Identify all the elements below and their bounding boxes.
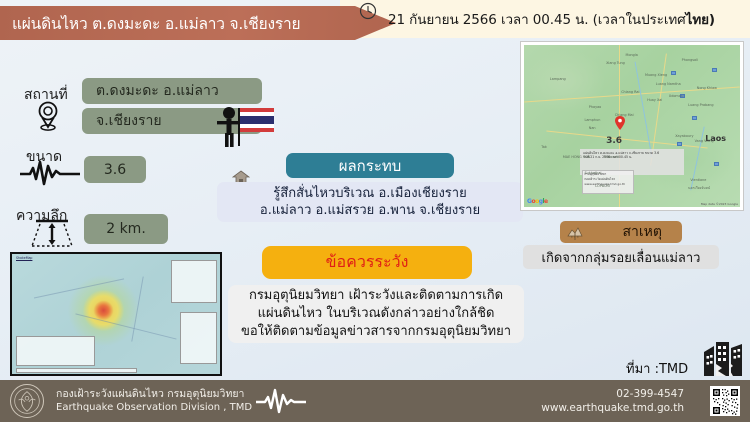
map-town-label: Lampang <box>550 77 566 81</box>
map-town-label: Muang Xieng <box>645 73 667 77</box>
footer-website[interactable]: www.earthquake.tmd.go.th <box>541 401 684 415</box>
map-town-label: Phongsali <box>682 58 698 62</box>
location-value-line1: ต.ดงมะดะ อ.แม่ลาว <box>82 78 262 104</box>
shakemap-fault-line <box>131 276 143 341</box>
stick-figure-icon <box>216 106 242 148</box>
map-town-label: Lamphun <box>584 118 600 122</box>
map-label-box <box>671 71 676 75</box>
seismograph-wave-icon <box>256 388 306 414</box>
source-label: ที่มา :TMD <box>626 358 688 379</box>
shakemap-title: ShakeMap <box>16 256 32 260</box>
depth-arrow-icon <box>30 218 74 248</box>
advisory-heading: ข้อควรระวัง <box>262 246 472 279</box>
map-town-label: MAE HONG SON <box>563 155 590 159</box>
qr-code-icon[interactable] <box>710 386 740 416</box>
footer-org-english: Earthquake Observation Division , TMD <box>56 401 252 415</box>
map-magnitude-label: 3.6 <box>606 136 622 146</box>
damaged-buildings-icon <box>702 338 744 376</box>
shakemap-canvas: ShakeMap <box>12 254 220 374</box>
impact-heading: ผลกระทบ <box>286 153 454 178</box>
footer-phone: 02-399-4547 <box>541 387 684 401</box>
map-town-label: Xiang Tung <box>606 61 625 65</box>
map-town-label: Luang Prabang <box>688 103 713 107</box>
location-pin-icon <box>30 98 66 134</box>
clock-icon <box>358 1 378 21</box>
event-datetime-main: 21 กันยายน 2566 เวลา 00.45 น. (เวลาในประ… <box>388 12 686 28</box>
map-town-label: Uttaradit <box>604 155 619 159</box>
map-town-label: Xayaboury <box>675 134 693 138</box>
map-town-label: นครเวียงจันทน์ <box>688 186 710 191</box>
google-logo: Google <box>527 198 548 205</box>
impact-line1: รู้สึกสั่นไหวบริเวณ อ.เมืองเชียงราย <box>273 185 466 202</box>
garuda-seal-icon <box>10 384 44 418</box>
shakemap-scalebar <box>16 368 137 373</box>
map-town-label: Huay Xai <box>647 98 662 102</box>
map-town-label: Sukhothai <box>584 171 601 175</box>
map-town-label: Nan <box>589 126 596 130</box>
shakemap-image[interactable]: ShakeMap <box>10 252 222 376</box>
page-title: แผ่นดินไหว ต.ดงมะดะ อ.แม่ลาว จ.เชียงราย <box>0 11 300 36</box>
event-datetime: 21 กันยายน 2566 เวลา 00.45 น. (เวลาในประ… <box>388 8 715 30</box>
title-banner: แผ่นดินไหว ต.ดงมะดะ อ.แม่ลาว จ.เชียงราย <box>0 6 396 40</box>
shakemap-legend-bottom-left <box>16 336 95 366</box>
footer-org-thai: กองเฝ้าระวังแผ่นดินไหว กรมอุตุนิยมวิทยา <box>56 387 252 401</box>
thai-flag-icon <box>240 108 274 132</box>
map-town-label: LOPBURI <box>595 184 610 188</box>
impact-line2: อ.แม่ลาว อ.แม่สรวย อ.พาน จ.เชียงราย <box>260 202 480 219</box>
map-label-box <box>692 116 697 120</box>
advisory-line2: แผ่นดินไหว ในบริเวณดังกล่าวอย่างใกล้ชิด <box>258 305 495 323</box>
shakemap-fault-line <box>34 278 124 298</box>
map-label-box <box>714 162 719 166</box>
seismograph-wave-icon <box>20 160 80 186</box>
magnitude-value: 3.6 <box>84 156 146 183</box>
location-map[interactable]: 3.6 Laos แผ่นดินไหว ต.ดงมะดะ อ.แม่ลาว จ.… <box>520 41 744 211</box>
footer-organization: กองเฝ้าระวังแผ่นดินไหว กรมอุตุนิยมวิทยา … <box>56 387 252 415</box>
event-datetime-country: ไทย) <box>686 12 715 28</box>
shakemap-legend-right-top <box>171 260 217 303</box>
depth-value: 2 km. <box>84 214 168 244</box>
footer-contact: 02-399-4547 www.earthquake.tmd.go.th <box>541 387 684 415</box>
advisory-line1: กรมอุตุนิยมวิทยา เฝ้าระวังและติดตามการเก… <box>249 287 503 305</box>
map-town-label: Chiang Mai <box>615 113 634 117</box>
cause-text: เกิดจากกลุ่มรอยเลื่อนแม่ลาว <box>523 245 719 269</box>
map-town-label: Tak <box>541 145 547 149</box>
map-town-label: Vientiane <box>690 178 706 182</box>
map-label-box <box>677 142 682 146</box>
map-canvas[interactable]: 3.6 Laos แผ่นดินไหว ต.ดงมะดะ อ.แม่ลาว จ.… <box>524 45 740 207</box>
map-callout-line2: วันที่ 21 ก.ย. 2566 เวลา 00.45 น. <box>583 155 681 159</box>
map-label-box <box>712 68 717 72</box>
footer: กองเฝ้าระวังแผ่นดินไหว กรมอุตุนิยมวิทยา … <box>0 380 750 422</box>
map-town-label: Udomxai <box>669 94 684 98</box>
fault-line-icon <box>566 224 584 240</box>
map-town-label: Mongla <box>626 53 638 57</box>
impact-body: รู้สึกสั่นไหวบริเวณ อ.เมืองเชียงราย อ.แม… <box>217 182 523 222</box>
map-town-label: Vang Vieng <box>695 139 714 143</box>
advisory-line3: ขอให้ติดตามข้อมูลข่าวสารจากกรมอุตุนิยมวิ… <box>241 323 511 341</box>
shakemap-legend-right-bottom <box>180 312 217 365</box>
advisory-body: กรมอุตุนิยมวิทยา เฝ้าระวังและติดตามการเก… <box>228 285 524 343</box>
map-town-label: Phayao <box>589 105 601 109</box>
map-town-label: Chiang Rai <box>621 90 639 94</box>
map-town-label: Luang Namtha <box>656 82 681 86</box>
header: แผ่นดินไหว ต.ดงมะดะ อ.แม่ลาว จ.เชียงราย … <box>0 0 750 38</box>
map-town-label: Nong Khiaw <box>697 86 717 90</box>
map-attribution: Map data ©2023 Google <box>701 202 738 206</box>
